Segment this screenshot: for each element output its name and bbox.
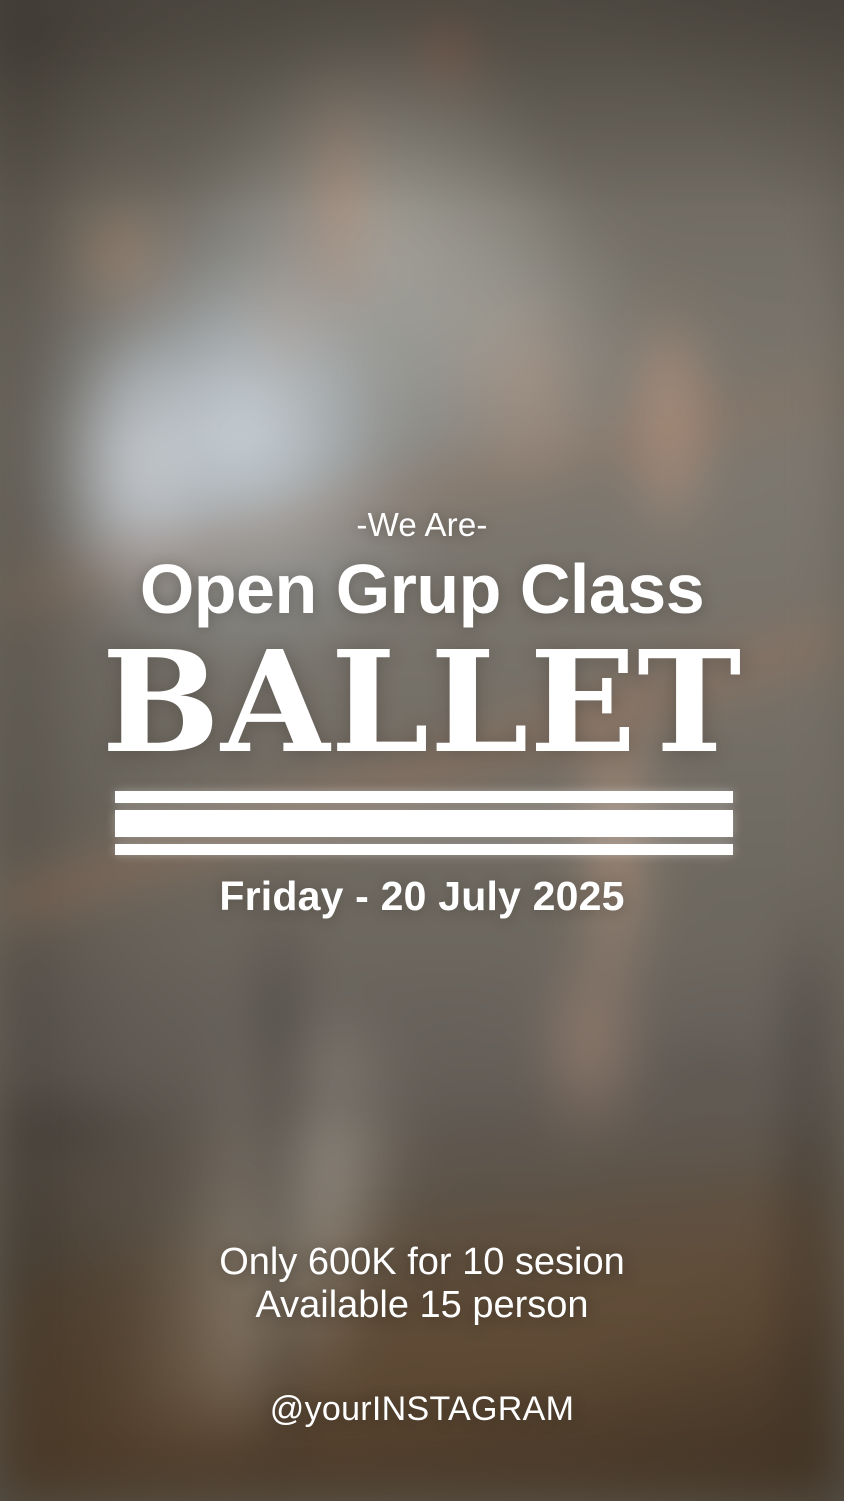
eyebrow-text: -We Are- [0, 508, 844, 541]
divider-rule-bottom [115, 844, 733, 855]
offer-capacity-line: Available 15 person [0, 1284, 844, 1327]
triple-rule-divider [115, 791, 733, 855]
divider-rule-top [115, 791, 733, 803]
divider-rule-middle [115, 810, 733, 837]
instagram-handle[interactable]: @yourINSTAGRAM [0, 1390, 844, 1429]
offer-price-line: Only 600K for 10 sesion [0, 1241, 844, 1284]
poster-content: -We Are- Open Grup Class BALLET Friday -… [0, 0, 844, 1501]
wordmark-ballet: BALLET [0, 630, 844, 777]
offer-block: Only 600K for 10 sesion Available 15 per… [0, 1241, 844, 1326]
ballet-class-poster: -We Are- Open Grup Class BALLET Friday -… [0, 0, 844, 1501]
event-date: Friday - 20 July 2025 [0, 873, 844, 920]
headline-text: Open Grup Class [0, 554, 844, 624]
hero-block: -We Are- Open Grup Class BALLET [0, 508, 844, 777]
